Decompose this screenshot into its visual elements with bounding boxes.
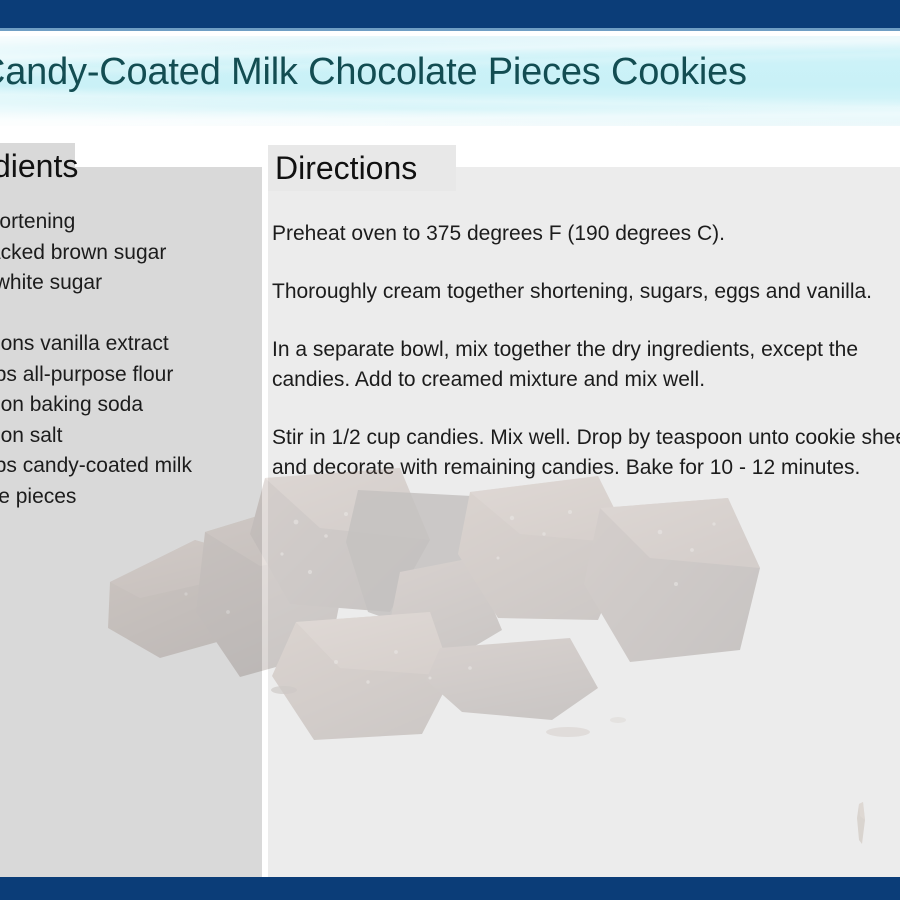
directions-list: Preheat oven to 375 degrees F (190 degre…	[272, 219, 900, 511]
direction-step: Thoroughly cream together shortening, su…	[272, 277, 900, 307]
direction-step: Stir in 1/2 cup candies. Mix well. Drop …	[272, 423, 900, 483]
ingredients-list: 1 cup shortening 1 cup packed brown suga…	[0, 207, 244, 512]
direction-step: Preheat oven to 375 degrees F (190 degre…	[272, 219, 900, 249]
list-item: 2 eggs	[0, 299, 244, 330]
recipe-slide: Candy-Coated Milk Chocolate Pieces Cooki…	[0, 0, 900, 900]
list-item: 1 cup shortening	[0, 207, 244, 238]
directions-heading: Directions	[268, 145, 456, 191]
list-item: 1/2 cup white sugar	[0, 268, 244, 299]
list-item: 2 teaspoons vanilla extract	[0, 329, 244, 360]
slide-top-bar-accent-line	[0, 28, 900, 31]
slide-bottom-bar	[0, 877, 900, 900]
list-item: 1 cup packed brown sugar	[0, 238, 244, 269]
ingredients-heading: Ingredients	[0, 143, 75, 189]
slide-title: Candy-Coated Milk Chocolate Pieces Cooki…	[0, 50, 900, 94]
list-item: 2 1/2 cups all-purpose flour	[0, 360, 244, 391]
list-item: 1 teaspoon baking soda	[0, 390, 244, 421]
slide-top-bar	[0, 0, 900, 28]
banner-sheen-4	[0, 103, 900, 126]
direction-step: In a separate bowl, mix together the dry…	[272, 335, 900, 395]
list-item: 1 1/2 cups candy-coated milk chocolate p…	[0, 451, 220, 512]
list-item: 1 teaspoon salt	[0, 421, 244, 452]
